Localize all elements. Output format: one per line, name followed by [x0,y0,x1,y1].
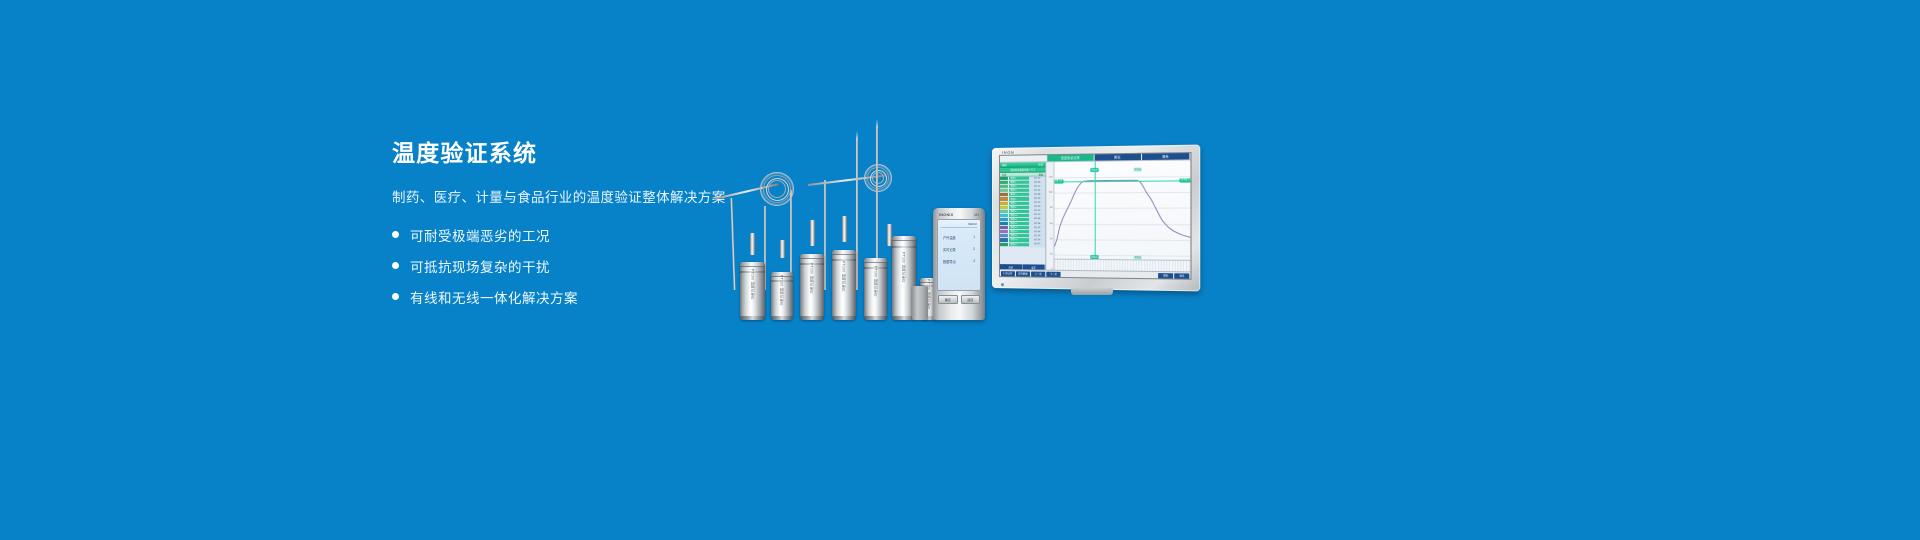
channel-name-cell: 通道 10 [1009,214,1029,217]
handheld-back-button[interactable]: 返回 [961,295,981,304]
channel-name-cell: 通道 8 [1009,206,1029,209]
coiled-probe-left [760,172,794,206]
save-data-button[interactable]: 保存数据 [1016,271,1030,276]
channel-value-cell: 121.47 [1029,214,1045,217]
channel-color-swatch [1000,234,1009,237]
logger-neck [810,220,815,246]
monitor-brand-label: INON [1002,149,1014,154]
logger-label: PT100 温度记录仪 [810,264,815,295]
channel-name-cell: 通道 6 [1009,197,1029,200]
handheld-menu-value: 2 [973,247,975,252]
logger-label: PT100 温度记录仪 [842,261,847,292]
channel-name-cell: 通道 12 [1009,222,1029,225]
channel-color-swatch [1000,193,1009,196]
tab-temperature-record[interactable]: 温度验证记录 [1048,155,1095,162]
y-axis-tick-label: 60 [1050,223,1052,225]
channel-name-cell: 通道 5 [1009,193,1029,196]
logger-label: PT100 温度记录仪 [780,275,785,306]
logger-cap [800,254,824,259]
table-row[interactable]: 通道 17121.27 [1000,243,1045,247]
handheld-brand-row: INONIX M1 [937,212,981,219]
channel-name-cell: 通道 13 [1009,226,1029,229]
logger-base [864,316,887,320]
channel-color-swatch [1000,238,1009,241]
logger-label: PT100 温度记录仪 [873,266,878,297]
channel-name-cell: 通道 2 [1009,181,1029,184]
logger-cap [740,262,765,267]
annotation-setpoint-left[interactable]: 设定值 121 [1054,179,1063,183]
channel-color-swatch [1000,218,1009,221]
handheld-menu-value: 1 [973,235,975,240]
channel-value-cell: 121.38 [1029,222,1045,225]
needle-probe-short [856,140,858,290]
foam-block-sensor [912,286,928,320]
channel-name-cell: 通道 7 [1009,201,1029,204]
y-axis-tick-label: 120 [1049,177,1052,179]
handheld-menu-value: 3 [973,259,975,264]
annotation-cursor-start-top[interactable]: 开始点 [1090,168,1099,172]
channel-name-cell: 通道 11 [1009,218,1029,221]
logger-base [740,316,765,320]
exit-button[interactable]: 退出 [1174,273,1189,278]
handheld-keypad: 确定 返回 [937,295,981,304]
channel-row-list: 通道 1121.21通道 2121.34通道 3121.17通道 4121.42… [1000,176,1045,264]
channel-color-swatch [1000,197,1009,200]
channel-value-cell: 121.34 [1029,181,1045,184]
probe-wire [824,180,826,290]
handheld-menu-label: 数据导出 [943,259,956,264]
logger-5: PT100 温度记录仪 [864,258,887,320]
handheld-menu-label: 实时记录 [943,247,956,252]
logger-label: PT100 温度记录仪 [902,252,907,283]
channel-name-cell: 通道 3 [1009,185,1029,188]
channel-value-cell: 121.21 [1029,176,1045,179]
bullet-dot-icon [392,293,399,300]
handheld-menu-label: 户外温度 [943,235,956,240]
col-header-value: 数值 [1039,172,1043,176]
channel-value-cell: 121.44 [1029,230,1045,233]
channel-color-swatch [1000,185,1009,188]
channel-name-cell: 通道 4 [1009,189,1029,192]
open-file-button[interactable]: 打开文件 [1001,271,1015,276]
chart-panel: 020406080100120 开始点开始点保温段保温段设定值 121设定值 1… [1046,160,1190,271]
channel-value-cell: 121.33 [1029,239,1045,242]
coil-ring [768,180,786,198]
chart-x-axis [1054,259,1190,272]
handheld-brand-label: INONIX [939,213,953,217]
channel-value-cell: 121.19 [1029,234,1045,237]
channel-value-cell: 121.08 [1029,193,1045,196]
monitor-display: INON 温度验证记录 图表 报告 通道 [992,148,1192,288]
curve-line [1054,180,1190,248]
temperature-curve [1054,160,1190,271]
y-axis-tick-label: 100 [1049,192,1052,194]
logger-base [771,316,793,320]
channel-color-swatch [1000,177,1009,180]
chart-y-axis: 020406080100120 [1046,162,1054,270]
col-header-name: 名称 [1002,172,1006,176]
channel-color-swatch [1000,226,1009,229]
channel-name-cell: 通道 9 [1009,210,1029,213]
handheld-ok-button[interactable]: 确定 [938,295,958,304]
monitor-bezel: INON 温度验证记录 图表 报告 通道 [992,145,1200,292]
bullet-label: 可抵抗现场复杂的干扰 [410,256,550,276]
monitor-power-led-icon [1001,283,1004,286]
annotation-hold-region-top[interactable]: 保温段 [1133,168,1142,172]
logger-cap [832,250,856,255]
channel-name-cell: 通道 16 [1009,238,1029,241]
prev-page-button[interactable]: 上一页 [1031,271,1045,276]
tab-chart[interactable]: 图表 [1094,154,1142,161]
probe-wire [730,198,735,290]
handheld-menu-item[interactable]: 实时记录 2 [941,247,977,252]
y-axis-tick-label: 20 [1050,253,1052,255]
software-body: 通道 状态 温度验证通道列表 ( °C ) 名称 数值 通道 1121.21通道… [1000,160,1191,271]
y-axis-tick-label: 40 [1050,238,1052,240]
channel-name-cell: 通道 1 [1009,177,1029,180]
tab-report[interactable]: 报告 [1142,153,1191,160]
handheld-screen: MENU 户外温度 1 实时记录 2 数据导出 3 [937,219,981,291]
handheld-menu-item[interactable]: 数据导出 3 [941,259,977,264]
logger-3: PT100 温度记录仪 [800,254,824,320]
handheld-device[interactable]: INONIX M1 MENU 户外温度 1 实时记录 2 数据导出 3 [933,208,985,320]
channel-value-cell: 121.27 [1029,243,1045,246]
y-axis-tick-label: 0 [1051,269,1052,271]
cursor-line-start[interactable] [1094,162,1095,271]
channel-value-cell: 121.31 [1029,201,1045,204]
logger-cap [864,258,887,263]
channel-value-cell: 121.26 [1029,206,1045,209]
channel-color-swatch [1000,210,1009,213]
chart-plot-area[interactable]: 开始点开始点保温段保温段设定值 121设定值 121 [1054,160,1190,271]
channel-name-cell: 通道 14 [1009,230,1029,233]
tab-spacer [1000,155,1048,162]
logger-neck [842,216,847,242]
channel-table: 通道 状态 温度验证通道列表 ( °C ) 名称 数值 通道 1121.21通道… [1000,162,1046,269]
channel-color-swatch [1000,189,1009,192]
bullet-label: 有线和无线一体化解决方案 [410,287,578,307]
channel-value-cell: 121.13 [1029,210,1045,213]
next-page-button[interactable]: 下一页 [1046,271,1060,276]
handheld-screen-title: MENU [941,222,977,228]
logger-neck [750,233,755,255]
channel-color-swatch [1000,214,1009,217]
logger-band [892,246,916,248]
channel-color-swatch [1000,201,1009,204]
logger-4: PT100 温度记录仪 [832,250,856,320]
channel-color-swatch [1000,181,1009,184]
channel-value-cell: 121.22 [1029,226,1045,229]
toolbar-spacer [1062,271,1157,277]
bullet-dot-icon [392,262,399,269]
channel-color-swatch [1000,222,1009,225]
logger-base [832,316,856,320]
channel-name-cell: 通道 17 [1009,243,1029,246]
logger-label: PT100 温度记录仪 [750,269,755,300]
channel-color-swatch [1000,206,1009,209]
hero-banner: 温度验证系统 制药、医疗、计量与食品行业的温度验证整体解决方案 可耐受极端恶劣的… [0,0,1920,540]
logger-base [800,316,824,320]
channel-value-cell: 121.17 [1029,185,1045,188]
monitor-stand [1071,288,1113,295]
channel-color-swatch [1000,243,1009,246]
help-button[interactable]: 帮助 [1158,273,1173,278]
handheld-menu-item[interactable]: 户外温度 1 [941,235,977,240]
bullet-dot-icon [392,231,399,238]
logger-1: PT100 温度记录仪 [740,262,765,320]
product-photo-group: PT100 温度记录仪 PT100 温度记录仪 PT100 温度记录仪 PT10… [720,120,1220,320]
handheld-model-label: M1 [974,213,979,217]
annotation-setpoint-right[interactable]: 设定值 121 [1180,178,1191,182]
channel-value-cell: 121.09 [1029,218,1045,221]
channel-value-cell: 121.55 [1029,197,1045,200]
channel-color-swatch [1000,230,1009,233]
channel-header-right: 状态 [1038,162,1043,166]
y-axis-tick-label: 80 [1050,207,1052,209]
bullet-label: 可耐受极端恶劣的工况 [410,225,550,245]
logger-2: PT100 温度记录仪 [771,272,793,320]
logger-cap [892,236,916,241]
channel-name-cell: 通道 15 [1009,234,1029,237]
channel-header-left: 通道 [1002,163,1007,167]
software-window: 温度验证记录 图表 报告 通道 状态 温度验证通道列表 ( °C ) [999,152,1192,280]
channel-value-cell: 121.42 [1029,189,1045,192]
logger-neck [780,240,785,258]
